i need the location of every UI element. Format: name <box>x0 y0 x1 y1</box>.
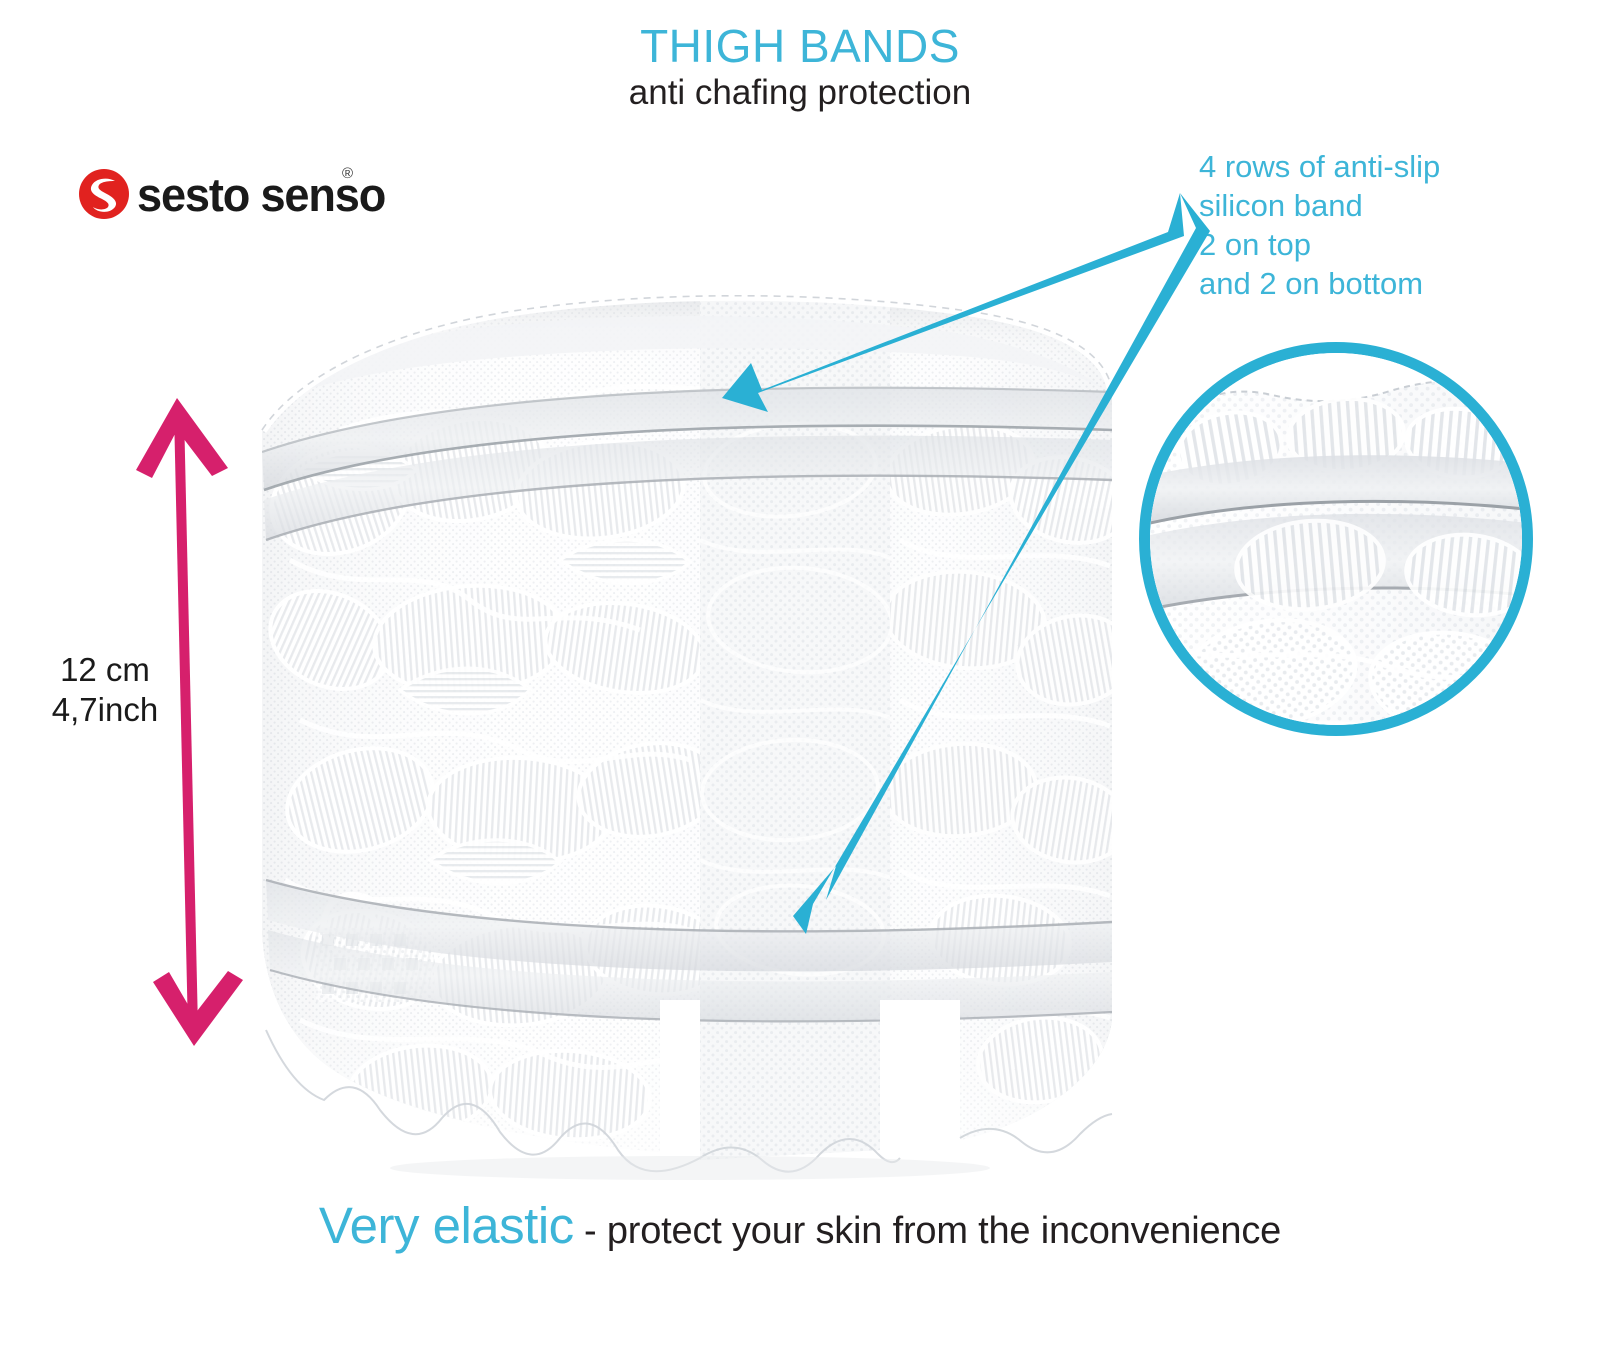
magnifier-zoomed-fabric <box>1150 353 1522 725</box>
callout-line-2: silicon band <box>1199 186 1529 225</box>
infographic-canvas: THIGH BANDS anti chafing protection sest… <box>0 0 1600 1361</box>
silicone-band-bottom-1 <box>266 880 1112 971</box>
silicon-band-callout: 4 rows of anti-slip silicon band 2 on to… <box>1199 147 1529 303</box>
sesto-senso-s-icon <box>78 168 130 220</box>
silicon-band-magnifier <box>1139 342 1533 736</box>
dimension-metric: 12 cm <box>35 650 175 690</box>
silicone-band-top-1 <box>262 388 1112 490</box>
silicon-band-pointer-arrows <box>722 193 1210 934</box>
dimension-imperial: 4,7inch <box>35 690 175 730</box>
caption-rest-text: - protect your skin from the inconvenien… <box>574 1210 1281 1252</box>
callout-line-1: 4 rows of anti-slip <box>1199 147 1529 186</box>
registered-trademark-symbol: ® <box>342 166 353 181</box>
header: THIGH BANDS anti chafing protection <box>0 22 1600 113</box>
silicone-band-bottom-2 <box>268 930 1112 1021</box>
callout-line-3: 2 on top <box>1199 225 1529 264</box>
magnifier-ring <box>1139 342 1533 736</box>
bottom-caption: Very elastic - protect your skin from th… <box>0 1196 1600 1255</box>
caption-accent-text: Very elastic <box>319 1197 574 1254</box>
height-dimension-label: 12 cm 4,7inch <box>35 650 175 731</box>
page-subtitle: anti chafing protection <box>0 74 1600 113</box>
page-title: THIGH BANDS <box>0 22 1600 70</box>
silicone-band-top-2 <box>264 436 1112 540</box>
callout-line-4: and 2 on bottom <box>1199 264 1529 303</box>
